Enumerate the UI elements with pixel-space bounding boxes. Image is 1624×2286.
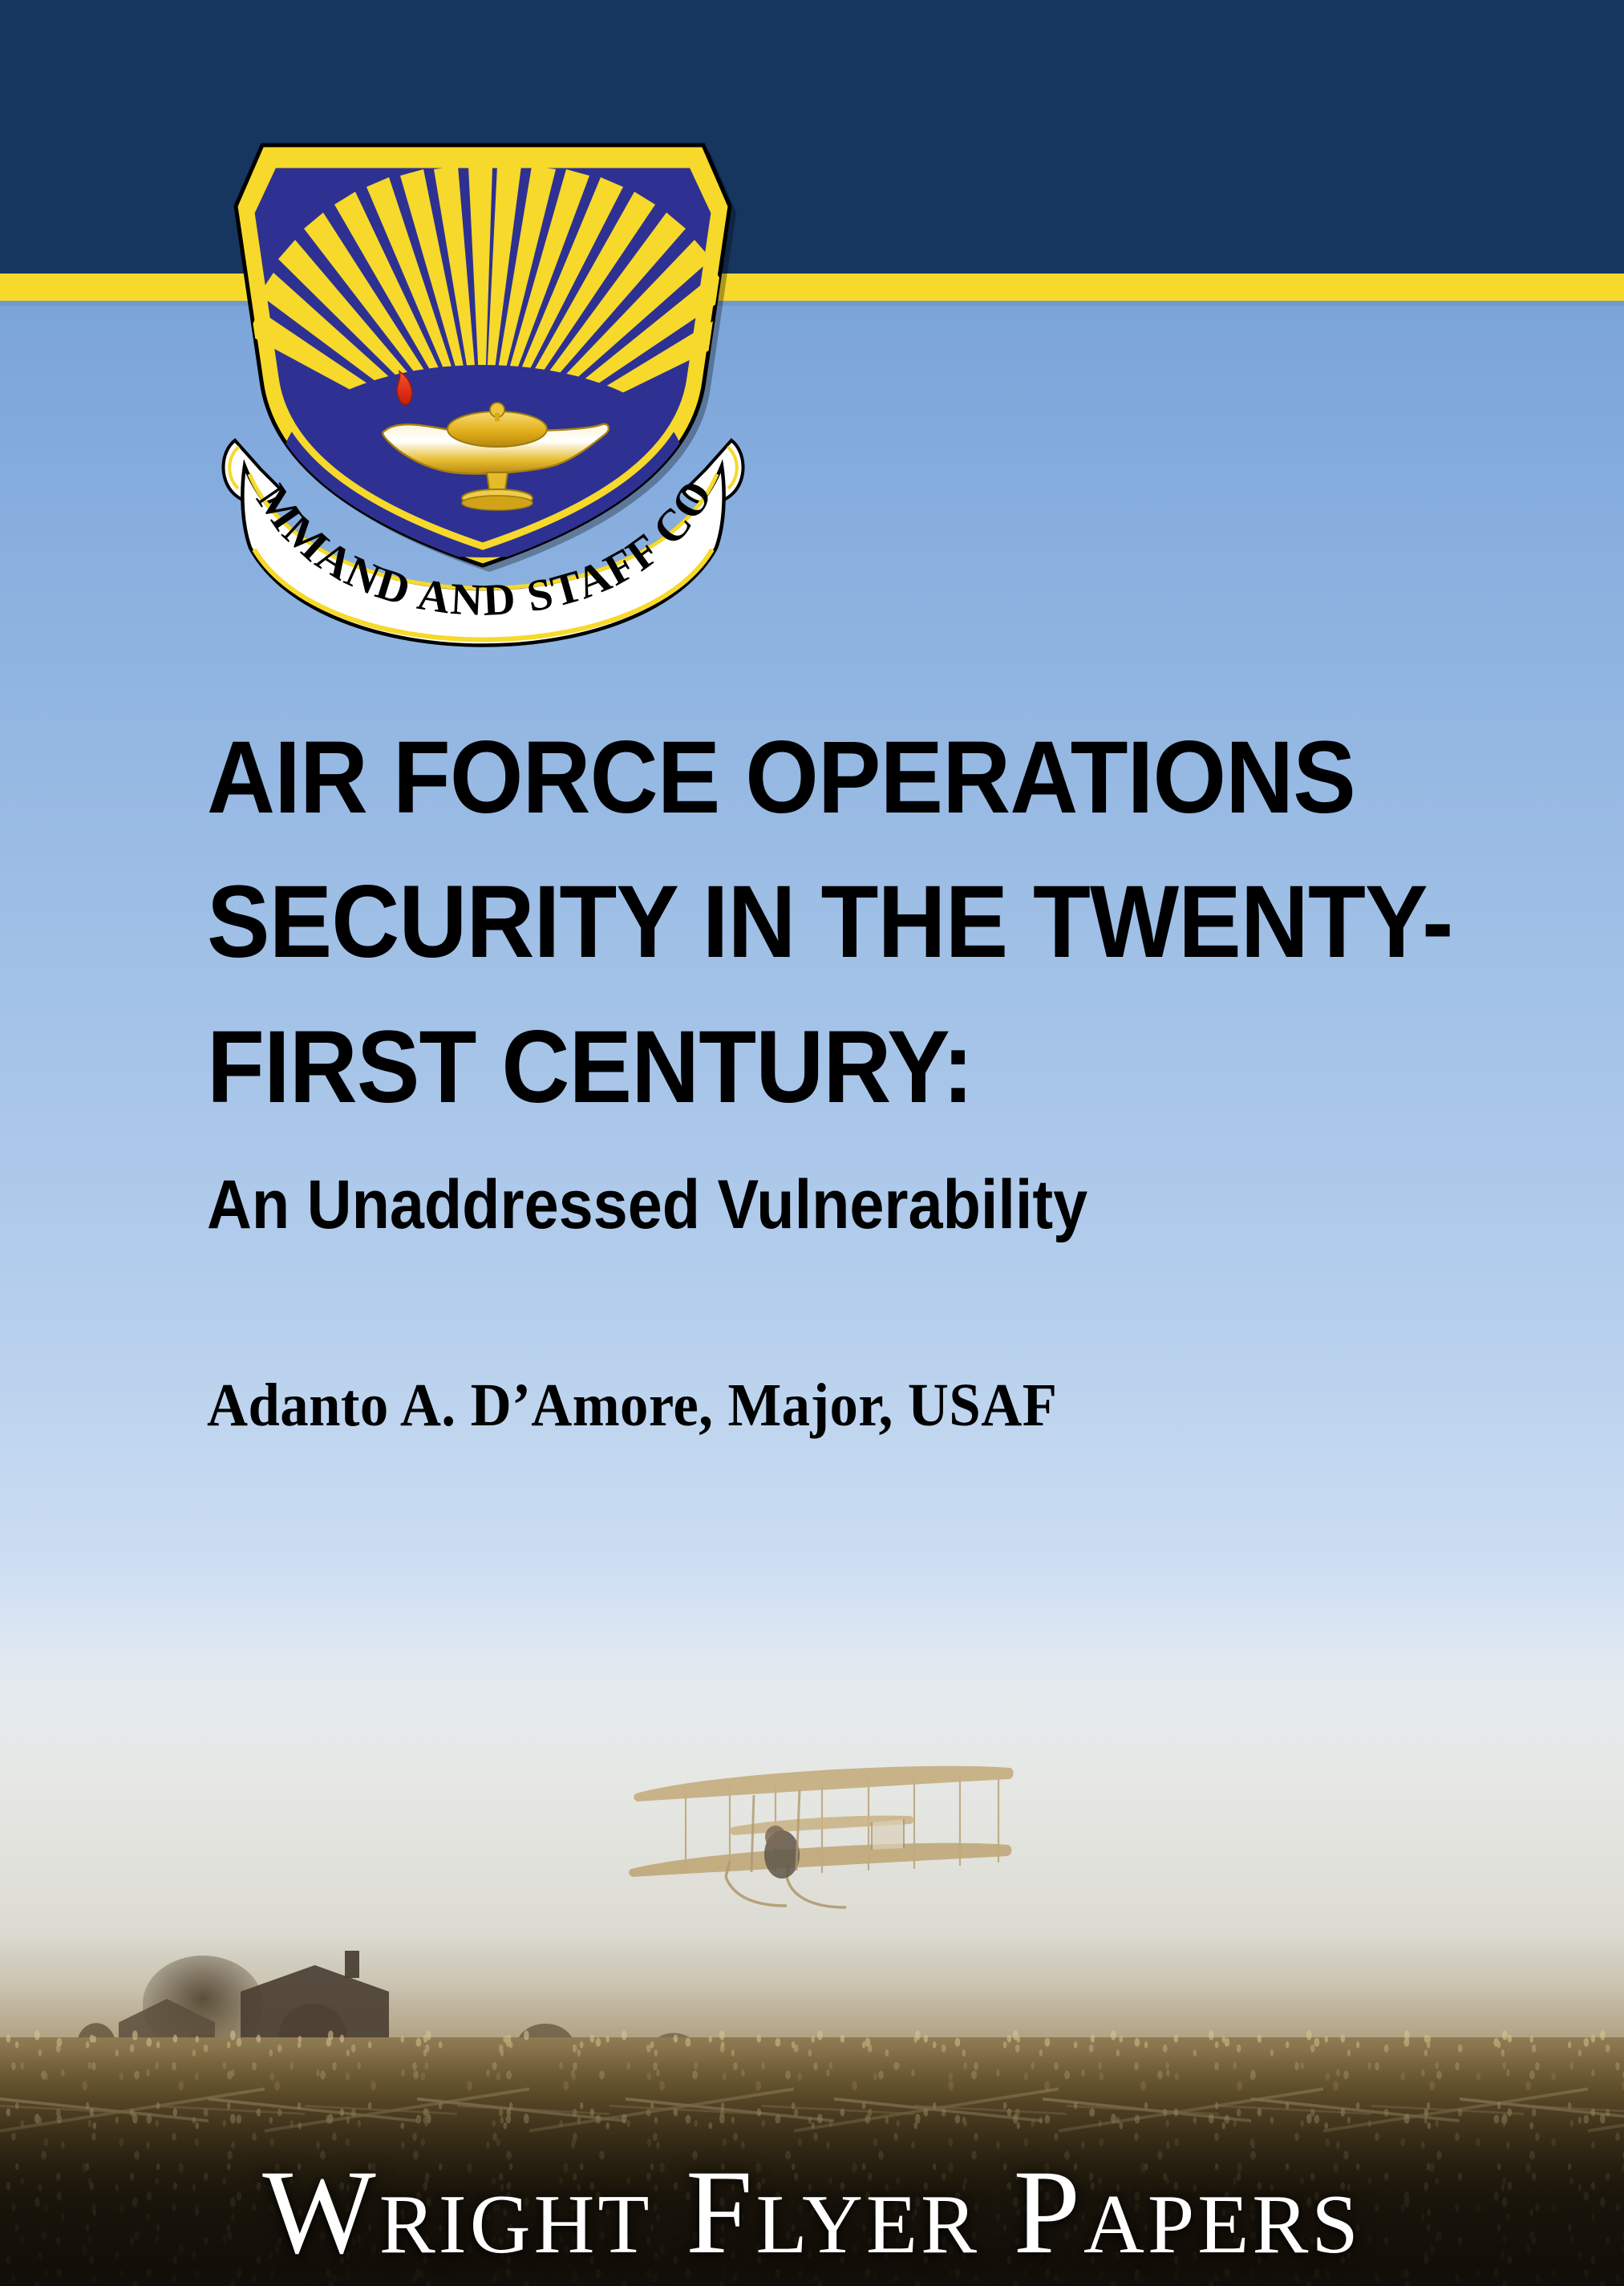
page-title-line-3: FIRST CENTURY: [207, 995, 1358, 1140]
page-title-line-1: AIR FORCE OPERATIONS [207, 706, 1358, 850]
page-subtitle: An Unaddressed Vulnerability [207, 1161, 1333, 1250]
wright-flyer-icon [589, 1749, 1039, 1933]
title-block: AIR FORCE OPERATIONS SECURITY IN THE TWE… [207, 706, 1458, 1441]
series-title: Wright Flyer Papers [0, 2143, 1624, 2281]
page-title-line-2: SECURITY IN THE TWENTY- [207, 850, 1358, 995]
author-byline: Adanto A. D’Amore, Major, USAF [207, 1371, 1371, 1441]
acsc-emblem-icon: AIR COMMAND AND STAFF COLLEGE [213, 116, 754, 702]
document-cover: AIR COMMAND AND STAFF COLLEGE AIR FORCE … [0, 0, 1624, 2286]
